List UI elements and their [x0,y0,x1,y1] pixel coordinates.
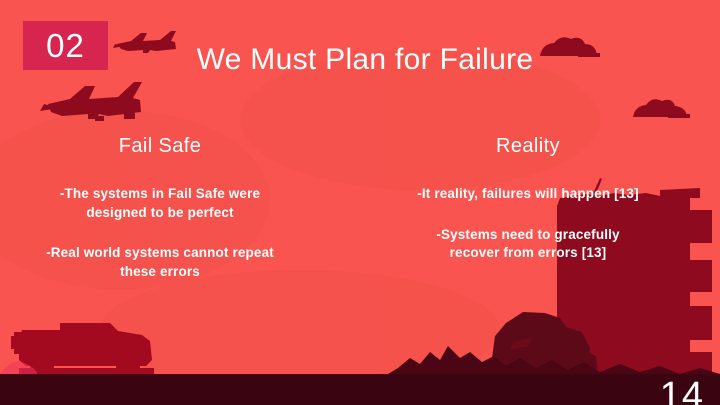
page-title: We Must Plan for Failure [180,42,550,79]
bullet-item: -Real world systems cannot repeat these … [22,244,298,281]
bullet-item: -Systems need to gracefully recover from… [390,226,666,263]
column-heading: Fail Safe [22,135,298,157]
column-heading: Reality [390,135,666,157]
fighter-jet-icon [40,82,142,121]
footer-bar: 14 [0,374,720,405]
slide-canvas: 02 We Must Plan for Failure Fail Safe -T… [0,0,720,405]
section-number-badge: 02 [23,21,108,70]
bullet-item: -The systems in Fail Safe were designed … [22,185,298,222]
cloud-icon [633,99,690,118]
column-fail-safe: Fail Safe -The systems in Fail Safe were… [22,135,298,282]
section-number-label: 02 [46,29,85,62]
bullet-item: -It reality, failures will happen [13] [390,185,666,204]
page-number: 14 [660,377,704,405]
column-reality: Reality -It reality, failures will happe… [390,135,666,263]
rubble-icon [492,312,598,380]
military-truck-icon [11,323,154,378]
fighter-jet-icon [113,31,176,53]
